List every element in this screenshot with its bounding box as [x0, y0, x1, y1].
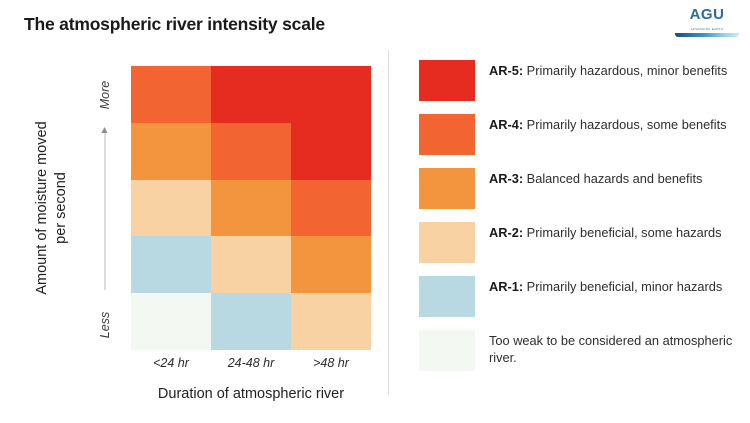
legend-item: AR-1: Primarily beneficial, minor hazard…: [419, 276, 737, 317]
heatmap-cell: [211, 293, 291, 350]
y-axis-scale-low-label: Less: [98, 312, 112, 338]
heatmap-chart: Amount of moisture moved per second More…: [0, 0, 390, 423]
x-axis-tick-label: 24-48 hr: [211, 356, 291, 370]
legend-item: AR-4: Primarily hazardous, some benefits: [419, 114, 737, 155]
legend-label: AR-4: Primarily hazardous, some benefits: [489, 114, 727, 133]
heatmap-cell: [211, 66, 291, 123]
legend-item: AR-3: Balanced hazards and benefits: [419, 168, 737, 209]
section-divider: [388, 50, 389, 395]
legend-description: Primarily beneficial, minor hazards: [523, 279, 722, 294]
legend-color-swatch: [419, 276, 475, 317]
legend-code: AR-5:: [489, 63, 523, 78]
legend-item: AR-2: Primarily beneficial, some hazards: [419, 222, 737, 263]
legend-label: AR-1: Primarily beneficial, minor hazard…: [489, 276, 722, 295]
heatmap-cell: [131, 123, 211, 180]
x-axis-title: Duration of atmospheric river: [131, 386, 371, 402]
y-axis-title-line1: Amount of moisture moved: [33, 121, 52, 294]
y-axis-title-line2: per second: [52, 121, 71, 294]
y-axis-scale: More Less: [88, 66, 122, 350]
legend-description: Too weak to be considered an atmospheric…: [489, 333, 732, 365]
legend-label: Too weak to be considered an atmospheric…: [489, 330, 737, 366]
heatmap-cell: [291, 66, 371, 123]
legend-description: Primarily beneficial, some hazards: [523, 225, 721, 240]
legend-color-swatch: [419, 60, 475, 101]
legend-description: Primarily hazardous, minor benefits: [523, 63, 727, 78]
legend: AR-5: Primarily hazardous, minor benefit…: [419, 60, 737, 384]
legend-color-swatch: [419, 222, 475, 263]
heatmap-cell: [131, 66, 211, 123]
heatmap-grid: [131, 66, 371, 350]
y-axis-scale-high-label: More: [98, 81, 112, 109]
heatmap-cell: [291, 180, 371, 237]
agu-logo-tagline-line1: ADVANCING EARTH: [676, 27, 738, 31]
legend-description: Primarily hazardous, some benefits: [523, 117, 726, 132]
legend-item: Too weak to be considered an atmospheric…: [419, 330, 737, 371]
agu-logo-swoosh-icon: [675, 33, 739, 37]
heatmap-cell: [291, 123, 371, 180]
heatmap-cell: [211, 123, 291, 180]
legend-code: AR-4:: [489, 117, 523, 132]
legend-code: AR-1:: [489, 279, 523, 294]
x-axis-tick-label: >48 hr: [291, 356, 371, 370]
legend-description: Balanced hazards and benefits: [523, 171, 702, 186]
y-axis-arrow-up-icon: [105, 128, 106, 290]
legend-color-swatch: [419, 168, 475, 209]
x-axis-tick-labels: <24 hr24-48 hr>48 hr: [131, 356, 371, 370]
x-axis-tick-label: <24 hr: [131, 356, 211, 370]
legend-code: AR-3:: [489, 171, 523, 186]
agu-logo: AGU ADVANCING EARTH AND SPACE SCIENCE: [676, 7, 738, 37]
heatmap-cell: [291, 293, 371, 350]
y-axis-title: Amount of moisture moved per second: [27, 0, 77, 66]
heatmap-cell: [131, 180, 211, 237]
agu-logo-mark: AGU: [690, 7, 725, 24]
heatmap-cell: [131, 236, 211, 293]
legend-label: AR-3: Balanced hazards and benefits: [489, 168, 702, 187]
heatmap-cell: [211, 180, 291, 237]
legend-code: AR-2:: [489, 225, 523, 240]
legend-item: AR-5: Primarily hazardous, minor benefit…: [419, 60, 737, 101]
legend-label: AR-2: Primarily beneficial, some hazards: [489, 222, 722, 241]
legend-color-swatch: [419, 114, 475, 155]
legend-color-swatch: [419, 330, 475, 371]
heatmap-cell: [211, 236, 291, 293]
heatmap-cell: [291, 236, 371, 293]
legend-label: AR-5: Primarily hazardous, minor benefit…: [489, 60, 727, 79]
heatmap-cell: [131, 293, 211, 350]
